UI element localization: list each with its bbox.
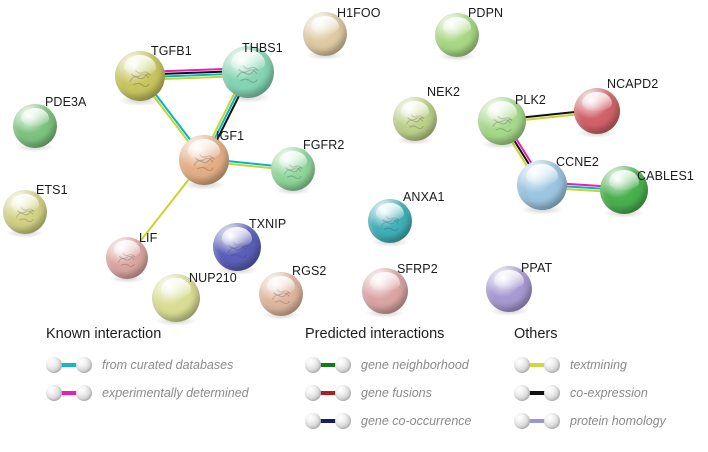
edge-strand-textmining xyxy=(163,77,224,79)
node-sphere xyxy=(259,272,303,316)
legend-column-2: Predicted interactionsgene neighborhoodg… xyxy=(305,326,471,435)
edge-swatch-icon xyxy=(305,356,351,374)
node-sphere xyxy=(115,51,165,101)
node-label-lif: LIF xyxy=(139,231,157,245)
legend-item[interactable]: from curated databases xyxy=(46,351,249,379)
legend-item-label: gene co-occurrence xyxy=(361,414,471,428)
edge-swatch-icon xyxy=(305,412,351,430)
node-sphere xyxy=(271,147,315,191)
node-label-sfrp2: SFRP2 xyxy=(397,262,438,276)
legend-node-left xyxy=(514,357,530,373)
legend-node-right xyxy=(544,357,560,373)
edge-ccne2-cables1[interactable] xyxy=(565,184,602,191)
protein-node-nek2[interactable] xyxy=(393,97,437,141)
legend-item[interactable]: gene neighborhood xyxy=(305,351,471,379)
legend-item[interactable]: textmining xyxy=(514,351,666,379)
legend-node-left xyxy=(305,385,321,401)
node-label-ccne2: CCNE2 xyxy=(556,155,599,169)
legend-item-label: experimentally determined xyxy=(102,386,249,400)
edge-layer xyxy=(0,0,708,330)
node-label-cables1: CABLES1 xyxy=(637,169,694,183)
node-label-igf1: IGF1 xyxy=(216,129,244,143)
protein-node-fgfr2[interactable] xyxy=(271,147,315,191)
edge-igf1-fgfr2[interactable] xyxy=(227,161,273,168)
protein-node-tgfb1[interactable] xyxy=(115,51,165,101)
legend-node-right xyxy=(335,413,351,429)
node-label-ppat: PPAT xyxy=(521,261,552,275)
node-label-rgs2: RGS2 xyxy=(292,264,326,278)
node-label-txnip: TXNIP xyxy=(249,217,286,231)
legend-node-left xyxy=(46,385,62,401)
edge-plk2-ncapd2[interactable] xyxy=(524,112,577,120)
node-label-pde3a: PDE3A xyxy=(45,95,87,109)
legend-item[interactable]: protein homology xyxy=(514,407,666,435)
node-label-fgfr2: FGFR2 xyxy=(303,138,344,152)
node-label-anxa1: ANXA1 xyxy=(403,190,445,204)
legend-node-right xyxy=(76,385,92,401)
legend-node-left xyxy=(514,413,530,429)
protein-node-rgs2[interactable] xyxy=(259,272,303,316)
legend-item-label: textmining xyxy=(570,358,627,372)
edge-swatch-icon xyxy=(514,412,560,430)
node-label-ets1: ETS1 xyxy=(36,183,68,197)
protein-node-anxa1[interactable] xyxy=(368,199,412,243)
edge-strand-experimental xyxy=(163,69,224,71)
legend-item-label: gene fusions xyxy=(361,386,432,400)
legend-column-title: Predicted interactions xyxy=(305,326,471,342)
edge-tgfb1-thbs1[interactable] xyxy=(163,69,224,79)
edge-swatch-icon xyxy=(46,384,92,402)
legend-item[interactable]: gene fusions xyxy=(305,379,471,407)
network-canvas[interactable]: PDE3AETS1TGFB1THBS1IGF1FGFR2LIFTXNIPNUP2… xyxy=(0,0,708,330)
node-label-nek2: NEK2 xyxy=(427,85,460,99)
legend-node-right xyxy=(544,413,560,429)
node-label-h1foo: H1FOO xyxy=(337,6,381,20)
node-label-tgfb1: TGFB1 xyxy=(151,44,192,58)
edge-strand-coexpression xyxy=(163,72,224,74)
edge-swatch-icon xyxy=(46,356,92,374)
legend: Known interactionfrom curated databasese… xyxy=(0,326,708,452)
legend-node-right xyxy=(335,385,351,401)
legend-node-left xyxy=(46,357,62,373)
legend-item-label: gene neighborhood xyxy=(361,358,469,372)
edge-strand-database xyxy=(565,186,602,188)
legend-item-label: co-expression xyxy=(570,386,648,400)
legend-item[interactable]: co-expression xyxy=(514,379,666,407)
legend-item[interactable]: experimentally determined xyxy=(46,379,249,407)
legend-column-title: Known interaction xyxy=(46,326,249,342)
legend-node-left xyxy=(305,413,321,429)
edge-swatch-icon xyxy=(514,356,560,374)
legend-item-label: protein homology xyxy=(570,414,666,428)
legend-column-3: Otherstextminingco-expressionprotein hom… xyxy=(514,326,666,435)
legend-node-left xyxy=(305,357,321,373)
legend-item[interactable]: gene co-occurrence xyxy=(305,407,471,435)
legend-column-1: Known interactionfrom curated databasese… xyxy=(46,326,249,407)
node-label-thbs1: THBS1 xyxy=(242,41,283,55)
edge-strand-textmining xyxy=(565,189,602,191)
node-sphere xyxy=(574,88,620,134)
protein-node-pde3a[interactable] xyxy=(13,104,57,148)
node-label-nup210: NUP210 xyxy=(189,271,237,285)
legend-node-right xyxy=(335,357,351,373)
node-label-ncapd2: NCAPD2 xyxy=(607,77,658,91)
edge-swatch-icon xyxy=(305,384,351,402)
protein-node-ncapd2[interactable] xyxy=(574,88,620,134)
node-sphere xyxy=(368,199,412,243)
string-network-figure: PDE3AETS1TGFB1THBS1IGF1FGFR2LIFTXNIPNUP2… xyxy=(0,0,708,452)
node-sphere xyxy=(13,104,57,148)
edge-swatch-icon xyxy=(514,384,560,402)
legend-node-right xyxy=(544,385,560,401)
legend-item-label: from curated databases xyxy=(102,358,233,372)
legend-node-right xyxy=(76,357,92,373)
node-sphere xyxy=(393,97,437,141)
node-label-plk2: PLK2 xyxy=(515,93,546,107)
node-label-pdpn: PDPN xyxy=(468,6,503,20)
legend-column-title: Others xyxy=(514,326,666,342)
legend-node-left xyxy=(514,385,530,401)
edge-strand-database xyxy=(163,74,224,76)
edge-strand-experimental xyxy=(565,184,602,186)
